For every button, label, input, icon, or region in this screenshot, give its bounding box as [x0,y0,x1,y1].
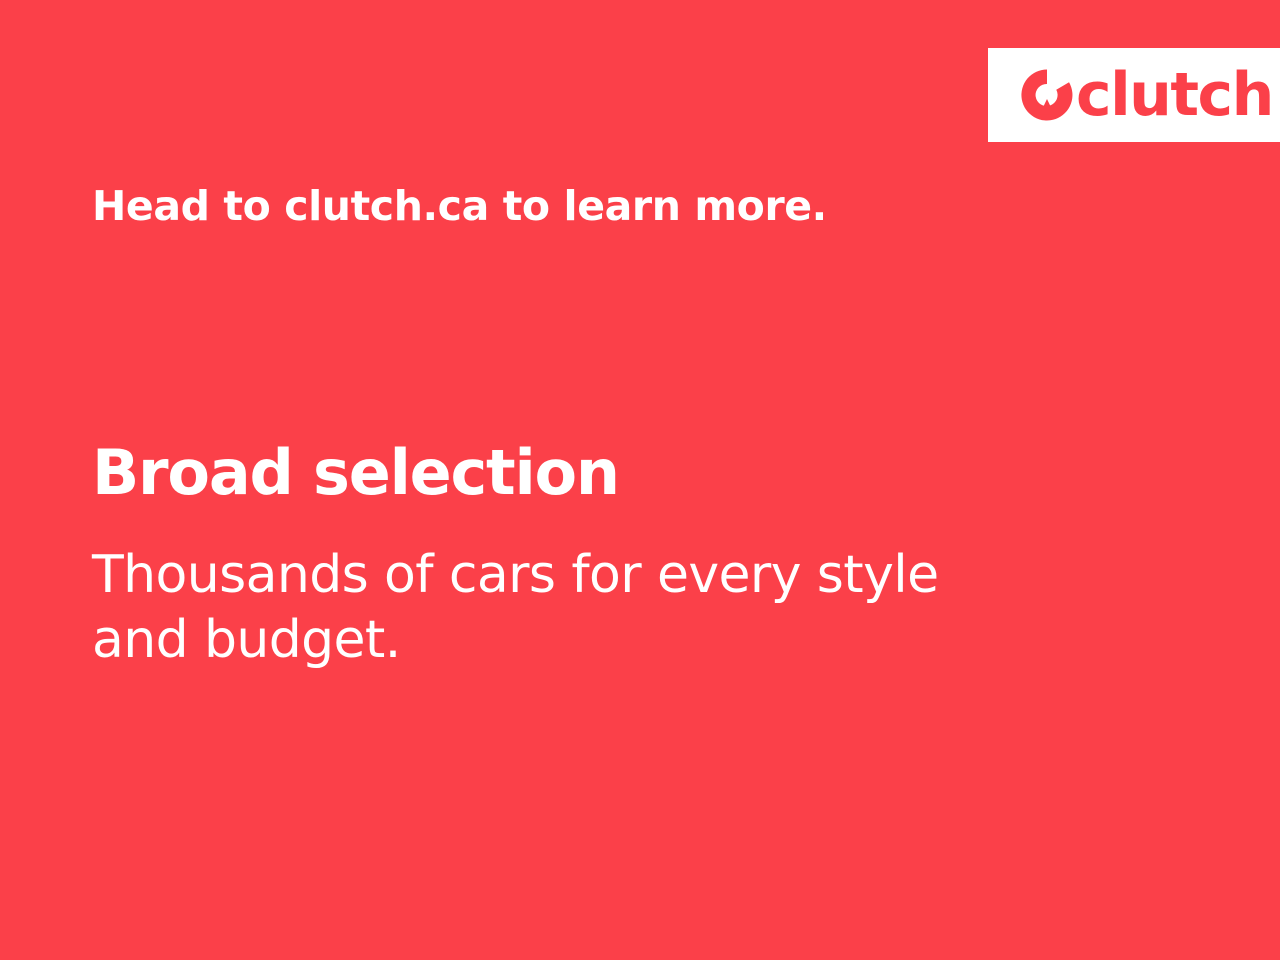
eyebrow-text: Head to clutch.ca to learn more. [92,180,827,232]
clutch-c-mark-icon [1018,66,1076,124]
subcopy-line-2: and budget. [92,608,1052,673]
clutch-logo-lockup: clutch [1018,64,1273,126]
slide-canvas: clutch Head to clutch.ca to learn more. … [0,0,1280,960]
subcopy-line-1: Thousands of cars for every style [92,543,1052,608]
clutch-wordmark: clutch [1076,66,1273,124]
clutch-logo-badge[interactable]: clutch [988,48,1280,142]
subcopy-text: Thousands of cars for every style and bu… [92,543,1052,673]
page-title: Broad selection [92,437,619,509]
